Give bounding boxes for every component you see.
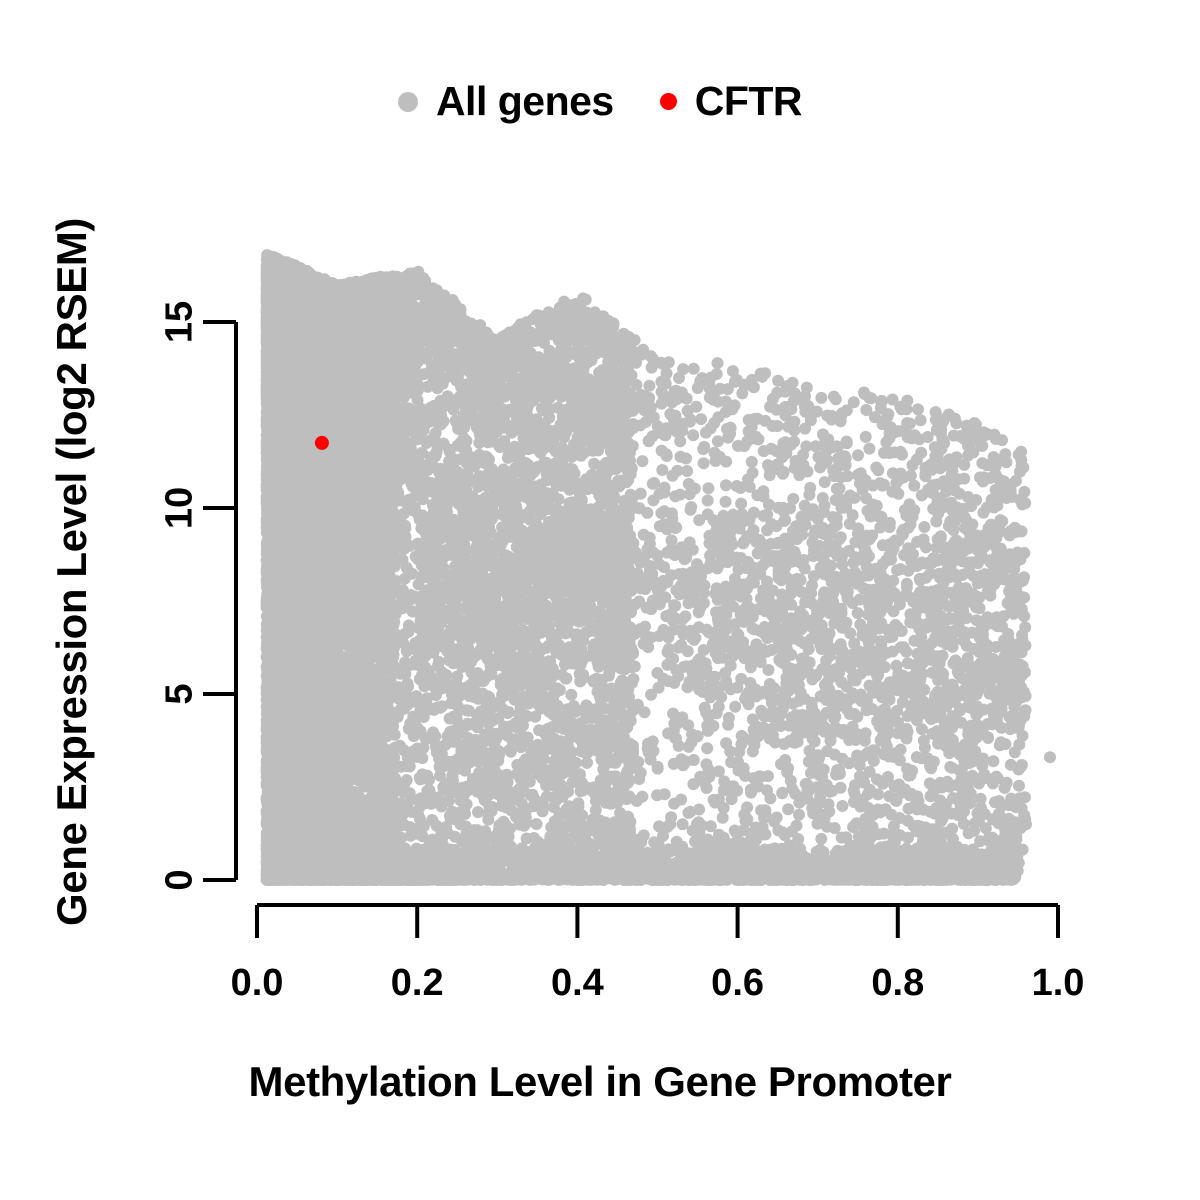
y-axis-title: Gene Expression Level (log2 RSEM)	[48, 162, 96, 982]
scatter-plot-figure: All genes CFTR Methylation Level in Gene…	[0, 0, 1200, 1200]
x-tick-label-5: 1.0	[1032, 962, 1085, 1005]
y-tick-label-1: 5	[159, 664, 202, 724]
plot-canvas	[0, 0, 1200, 1200]
y-tick-label-3: 15	[159, 292, 202, 352]
cftr-point-layer	[315, 436, 329, 450]
x-axis-title: Methylation Level in Gene Promoter	[0, 1058, 1200, 1106]
cftr-point	[315, 436, 329, 450]
y-tick-label-0: 0	[159, 850, 202, 910]
y-tick-label-2: 10	[159, 478, 202, 538]
x-tick-label-2: 0.4	[551, 962, 604, 1005]
x-tick-label-1: 0.2	[391, 962, 444, 1005]
x-tick-label-3: 0.6	[711, 962, 764, 1005]
x-tick-label-0: 0.0	[231, 962, 284, 1005]
x-tick-label-4: 0.8	[871, 962, 924, 1005]
